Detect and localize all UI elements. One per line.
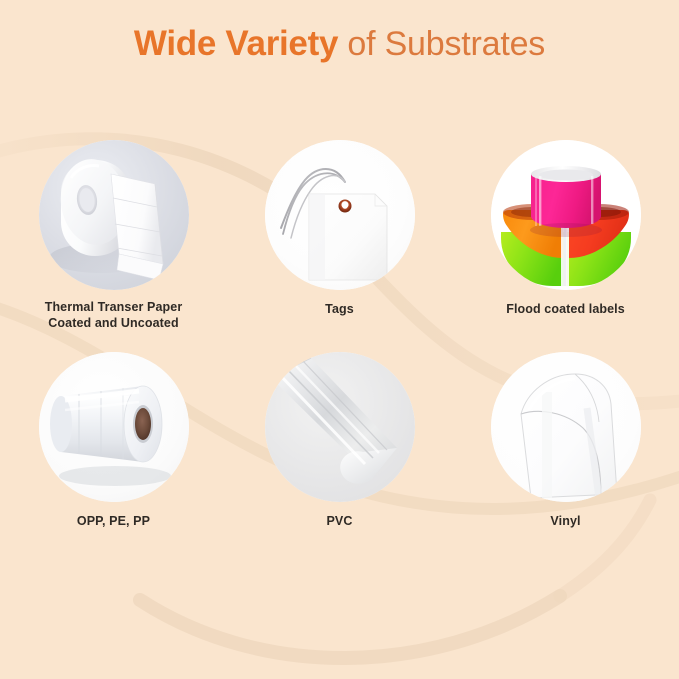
page-title: Wide Variety of Substrates xyxy=(0,26,679,61)
substrate-card-vinyl[interactable]: Vinyl xyxy=(453,352,679,530)
substrate-caption: Flood coated labels xyxy=(506,302,625,318)
substrate-card-tags[interactable]: Tags xyxy=(227,140,453,318)
substrate-card-opp-pe-pp[interactable]: OPP, PE, PP xyxy=(1,352,227,530)
substrate-card-thermal-transfer-paper[interactable]: Thermal Transer Paper Coated and Uncoate… xyxy=(1,140,227,331)
substrate-caption: Thermal Transer Paper Coated and Uncoate… xyxy=(45,300,183,331)
substrate-row-top: Thermal Transer Paper Coated and Uncoate… xyxy=(0,140,679,331)
substrate-caption: Tags xyxy=(325,302,354,318)
substrate-caption: PVC xyxy=(326,514,352,530)
page-title-strong: Wide Variety xyxy=(134,24,338,63)
substrates-infographic: Wide Variety of Substrates xyxy=(0,0,679,679)
clear-vinyl-sheet-image xyxy=(491,352,641,502)
clear-pvc-sheet-image xyxy=(265,352,415,502)
plastic-film-roll-image xyxy=(39,352,189,502)
substrate-row-bottom: OPP, PE, PP xyxy=(0,352,679,530)
hang-tag-image xyxy=(265,140,415,290)
substrate-caption: Vinyl xyxy=(550,514,580,530)
substrate-caption: OPP, PE, PP xyxy=(77,514,150,530)
substrate-card-flood-coated-labels[interactable]: Flood coated labels xyxy=(453,140,679,318)
substrate-card-pvc[interactable]: PVC xyxy=(227,352,453,530)
page-title-light: of Substrates xyxy=(338,25,545,63)
white-label-roll-image xyxy=(39,140,189,290)
substrate-grid: Thermal Transer Paper Coated and Uncoate… xyxy=(0,140,679,530)
fluorescent-label-rolls-image xyxy=(491,140,641,290)
